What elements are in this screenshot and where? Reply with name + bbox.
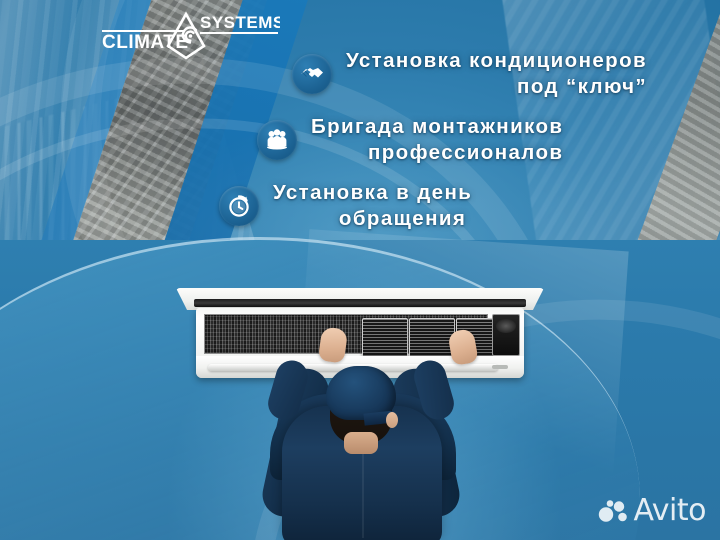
feature-line-2: профессионалов xyxy=(311,140,563,166)
avito-wordmark: Avito xyxy=(634,496,706,526)
feature-line-2: под “ключ” xyxy=(346,74,647,100)
feature-line-2: обращения xyxy=(273,206,472,232)
avito-dots-icon xyxy=(598,498,628,524)
feature-line-1: Бригада монтажников xyxy=(311,115,563,138)
technician-ear xyxy=(386,412,398,428)
feature-item-same-day: Установка в день обращения xyxy=(0,180,720,232)
technician-neck xyxy=(344,432,378,454)
feature-line-1: Установка кондиционеров xyxy=(346,49,647,72)
promo-poster: CLIMATE SYSTEMS Установка кондиционеров … xyxy=(0,0,720,540)
feature-text-team: Бригада монтажников профессионалов xyxy=(311,114,563,166)
feature-text-turnkey: Установка кондиционеров под “ключ” xyxy=(346,48,647,100)
feature-list: Установка кондиционеров под “ключ” Брига… xyxy=(0,48,720,246)
swirl-center-icon xyxy=(189,34,193,38)
avito-watermark: Avito xyxy=(598,496,706,526)
technician-left-hand xyxy=(318,326,348,363)
clock-arrow-icon xyxy=(219,186,259,226)
logo-rule-right xyxy=(200,32,278,34)
feature-line-1: Установка в день xyxy=(273,181,472,204)
logo-rule-left xyxy=(102,30,184,32)
handshake-icon xyxy=(292,54,332,94)
feature-text-same-day: Установка в день обращения xyxy=(273,180,472,232)
group-of-people-icon xyxy=(257,120,297,160)
feature-item-turnkey-installation: Установка кондиционеров под “ключ” xyxy=(0,48,720,100)
ac-panel-shadow xyxy=(194,299,526,307)
feature-item-professional-team: Бригада монтажников профессионалов xyxy=(0,114,720,166)
logo-text-systems: SYSTEMS xyxy=(200,13,280,32)
